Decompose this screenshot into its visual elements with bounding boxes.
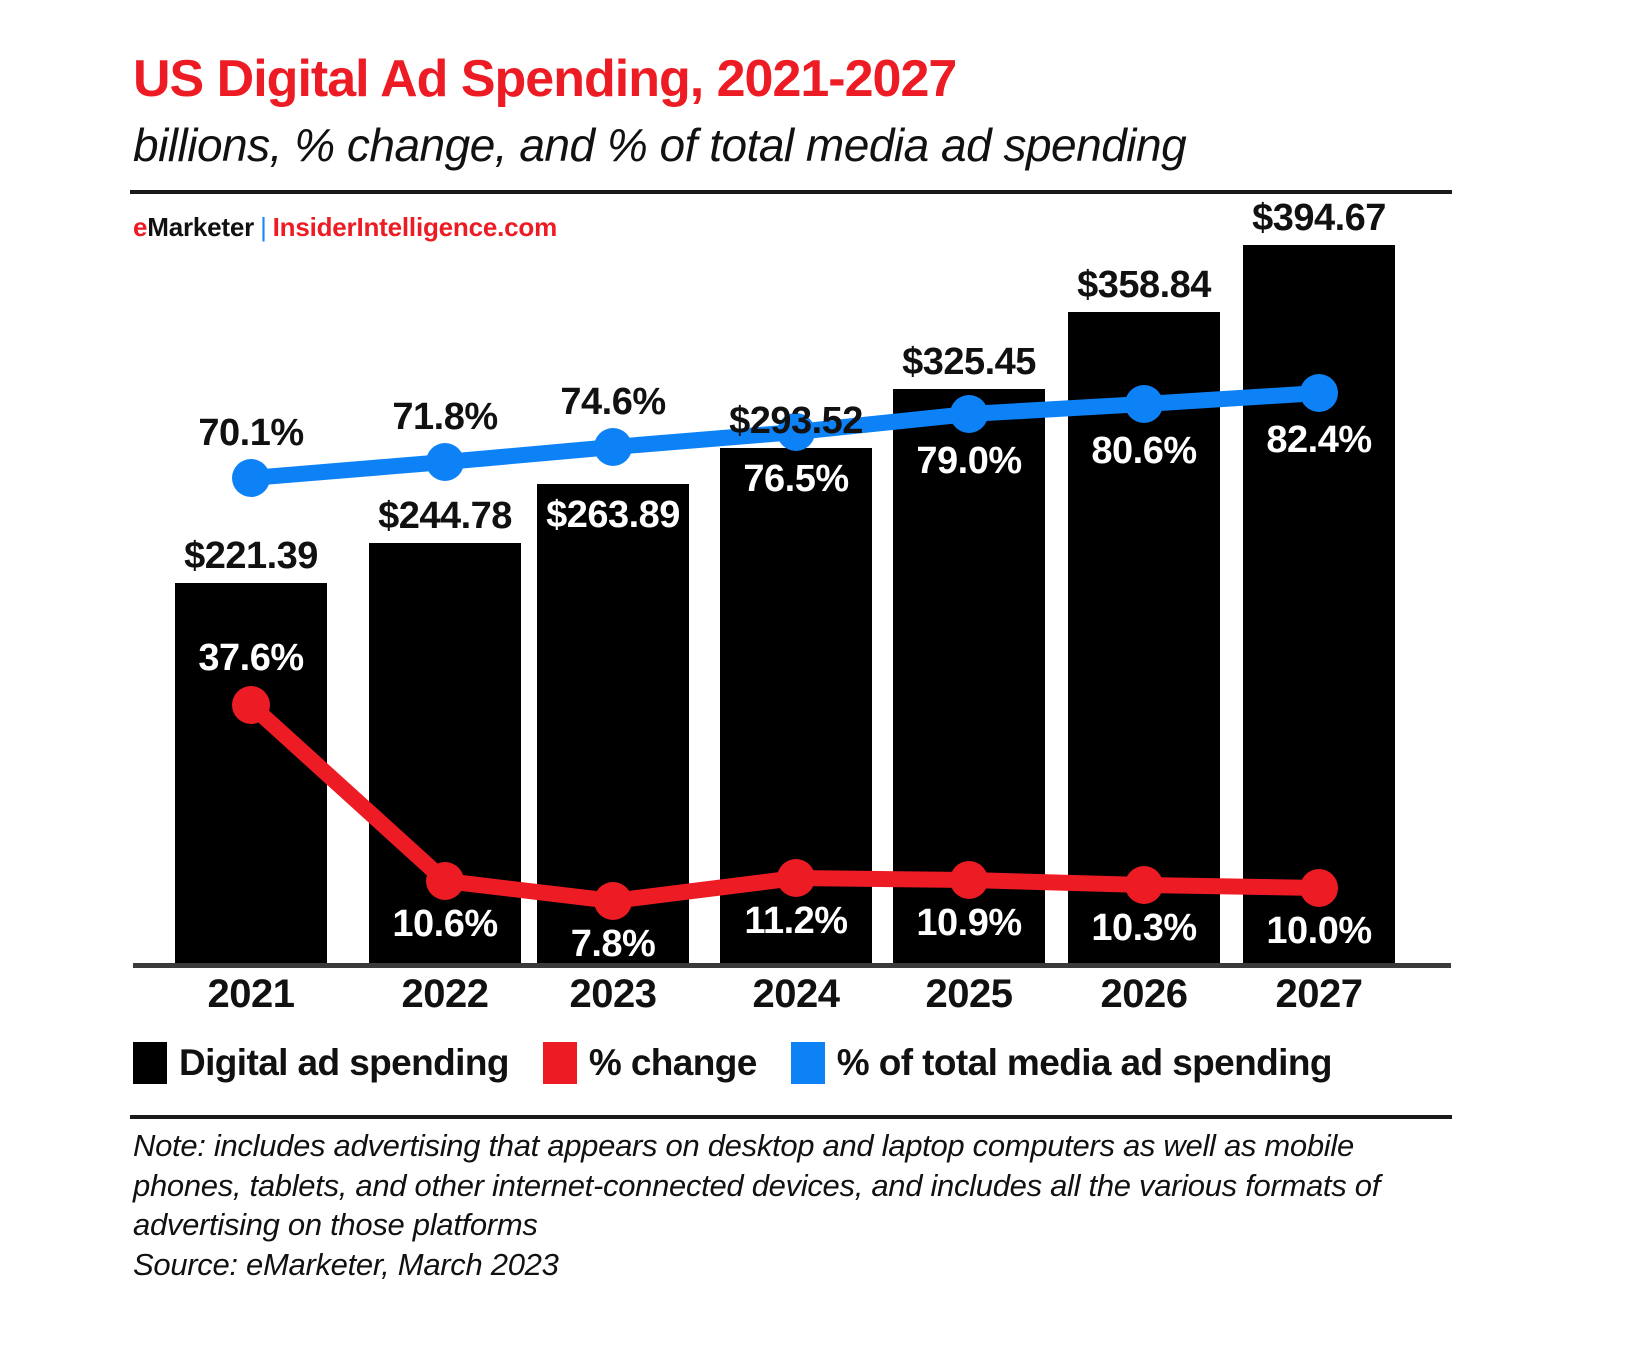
bar-value-label-2026: $358.84	[984, 264, 1304, 307]
x-axis-line	[133, 963, 1451, 968]
x-axis-label-2023: 2023	[513, 972, 713, 1017]
legend-swatch-blue-icon	[791, 1042, 825, 1084]
red-value-label-2021: 37.6%	[91, 637, 411, 680]
chart-page: US Digital Ad Spending, 2021-2027 billio…	[0, 0, 1628, 1368]
legend-item-percent-of-total-media[interactable]: % of total media ad spending	[791, 1042, 1332, 1084]
x-axis-label-2026: 2026	[1044, 972, 1244, 1017]
chart-legend: Digital ad spending % change % of total …	[133, 1042, 1332, 1084]
red-marker-2021	[232, 686, 270, 724]
x-axis-label-2025: 2025	[869, 972, 1069, 1017]
blue-marker-2021	[232, 459, 270, 497]
legend-label: % of total media ad spending	[837, 1042, 1332, 1084]
red-marker-2022	[426, 862, 464, 900]
x-axis-label-2024: 2024	[696, 972, 896, 1017]
source-text: Source: eMarketer, March 2023	[133, 1245, 1453, 1285]
blue-marker-2027	[1300, 374, 1338, 412]
blue-marker-2022	[426, 443, 464, 481]
legend-label: % change	[589, 1042, 757, 1084]
footer-divider	[130, 1115, 1452, 1119]
red-marker-2027	[1300, 869, 1338, 907]
legend-item-digital-ad-spending[interactable]: Digital ad spending	[133, 1042, 509, 1084]
blue-value-label-2023: 74.6%	[453, 381, 773, 424]
legend-label: Digital ad spending	[179, 1042, 509, 1084]
x-axis-label-2021: 2021	[151, 972, 351, 1017]
legend-item-percent-change[interactable]: % change	[543, 1042, 757, 1084]
red-marker-2025	[950, 861, 988, 899]
legend-swatch-red-icon	[543, 1042, 577, 1084]
red-marker-2026	[1125, 866, 1163, 904]
legend-swatch-black-icon	[133, 1042, 167, 1084]
red-value-label-2027: 10.0%	[1159, 910, 1479, 953]
blue-value-label-2027: 82.4%	[1159, 419, 1479, 462]
footer-note: Note: includes advertising that appears …	[133, 1126, 1453, 1285]
bar-value-label-2027: $394.67	[1159, 197, 1479, 240]
red-marker-2024	[777, 859, 815, 897]
bar-value-label-2025: $325.45	[809, 341, 1129, 384]
blue-marker-2026	[1125, 385, 1163, 423]
note-text: Note: includes advertising that appears …	[133, 1128, 1380, 1242]
x-axis-label-2027: 2027	[1219, 972, 1419, 1017]
bar-value-label-2021: $221.39	[91, 535, 411, 578]
